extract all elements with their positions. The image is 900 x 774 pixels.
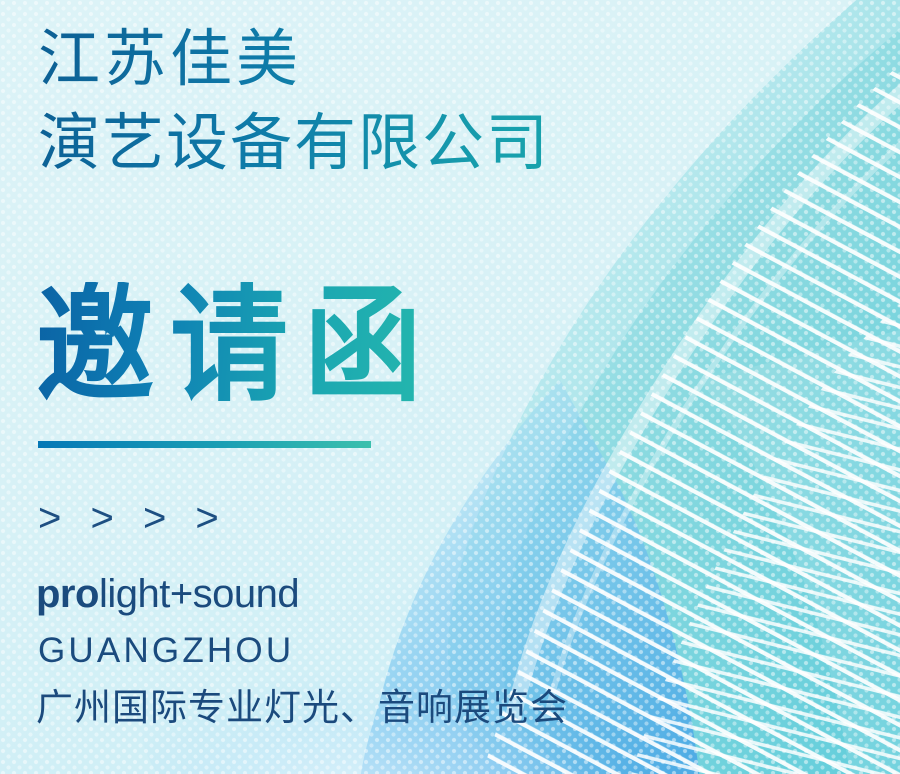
company-name-line2: 演艺设备有限公司	[38, 102, 798, 186]
company-name: 江苏佳美 演艺设备有限公司	[38, 18, 798, 186]
headline-invitation: 邀请函	[36, 282, 438, 408]
event-brand-light: light+sound	[99, 572, 299, 616]
company-name-line1: 江苏佳美	[38, 18, 798, 102]
event-city: GUANGZHOU	[38, 630, 294, 672]
event-brand-logotype: prolight+sound	[36, 571, 299, 617]
event-name-chinese: 广州国际专业灯光、音响展览会	[36, 684, 568, 732]
invitation-poster: 江苏佳美 演艺设备有限公司 邀请函 > > > > prolight+sound…	[0, 0, 900, 774]
event-brand-bold: pro	[36, 572, 99, 616]
headline-underline	[38, 441, 371, 448]
chevron-arrows-icon: > > > >	[38, 496, 228, 540]
poster-content: 江苏佳美 演艺设备有限公司 邀请函 > > > > prolight+sound…	[0, 0, 900, 774]
